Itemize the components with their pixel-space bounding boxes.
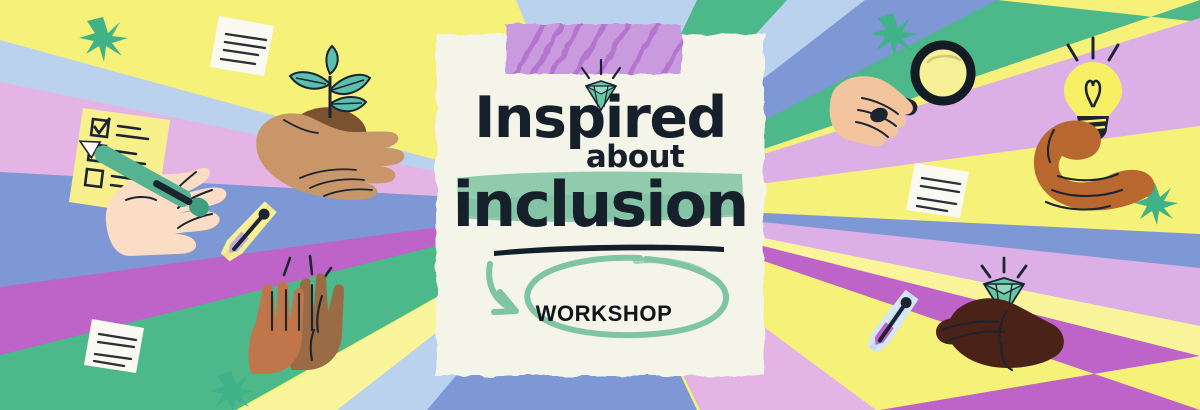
banner-root: Inspired about inclusion WORKSHOP xyxy=(0,0,1200,410)
center-card xyxy=(0,0,1200,410)
highlight-inclusion xyxy=(457,172,744,222)
